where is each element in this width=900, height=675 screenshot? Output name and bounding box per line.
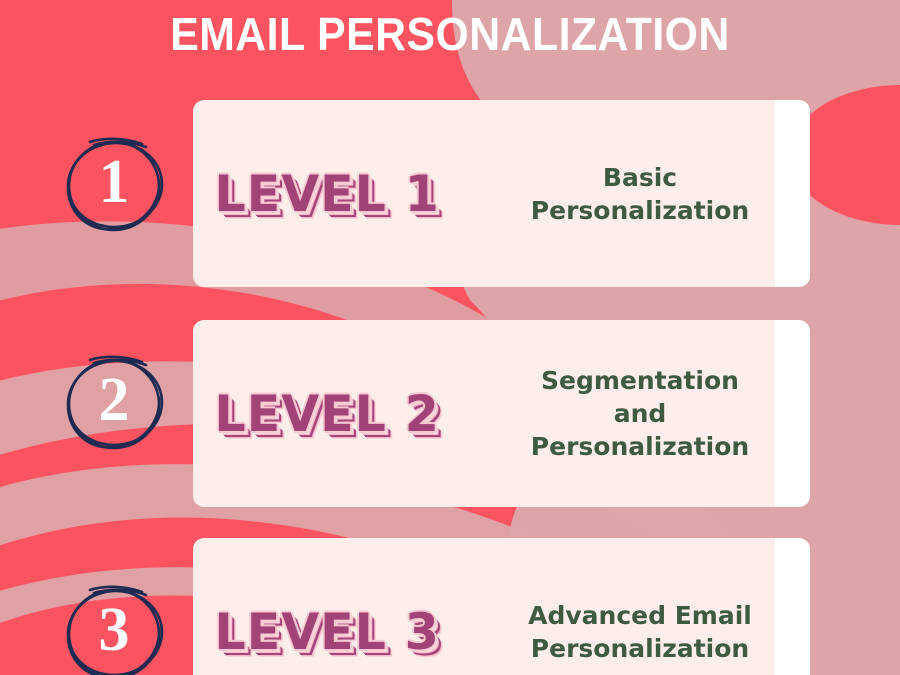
level-description-3: Advanced Email Personalization	[513, 599, 775, 665]
level-card-content-3: LEVEL 3 Advanced Email Personalization	[193, 538, 775, 675]
level-number-3: 3	[60, 578, 168, 675]
level-badge-3: 3	[60, 578, 168, 675]
level-description-2: Segmentation and Personalization	[513, 364, 775, 463]
infographic-poster: EMAIL PERSONALIZATION 1 LEVEL 1 Basic Pe…	[0, 0, 900, 675]
card-accent-strip-1	[775, 100, 810, 287]
card-accent-strip-2	[775, 320, 810, 507]
page-title: EMAIL PERSONALIZATION	[32, 8, 869, 60]
card-accent-strip-3	[775, 538, 810, 675]
level-badge-1: 1	[60, 130, 168, 238]
level-card-2[interactable]: LEVEL 2 Segmentation and Personalization	[193, 320, 810, 507]
level-card-3[interactable]: LEVEL 3 Advanced Email Personalization	[193, 538, 810, 675]
level-card-1[interactable]: LEVEL 1 Basic Personalization	[193, 100, 810, 287]
level-number-1: 1	[60, 130, 168, 238]
level-label-2: LEVEL 2	[193, 386, 507, 442]
level-badge-2: 2	[60, 348, 168, 456]
level-card-content-2: LEVEL 2 Segmentation and Personalization	[193, 320, 775, 507]
level-description-1: Basic Personalization	[513, 161, 775, 227]
level-label-1: LEVEL 1	[193, 166, 507, 222]
level-label-3: LEVEL 3	[193, 604, 507, 660]
level-number-2: 2	[60, 348, 168, 456]
level-card-content-1: LEVEL 1 Basic Personalization	[193, 100, 775, 287]
